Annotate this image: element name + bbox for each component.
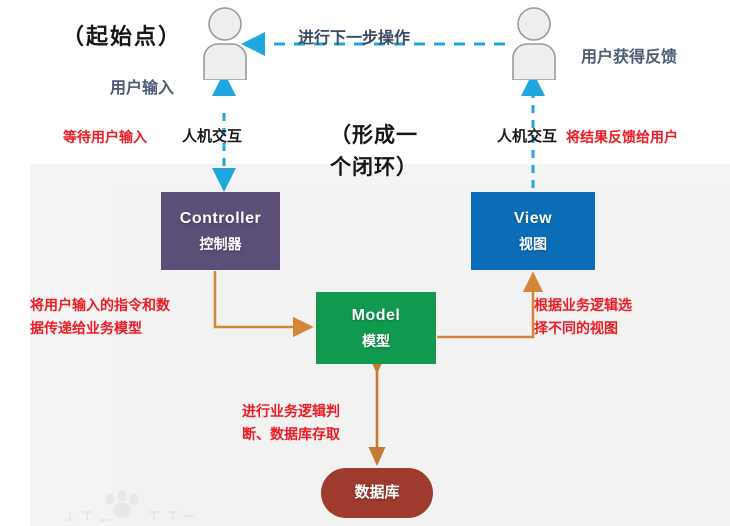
label-closed-loop: （形成一 个闭环）	[330, 120, 418, 184]
label-hci-left: 人机交互	[182, 127, 242, 148]
node-view-cn: 视图	[519, 237, 547, 252]
node-controller[interactable]: Controller 控制器	[161, 192, 280, 270]
label-start-point: （起始点）	[62, 22, 182, 52]
node-database[interactable]: 数据库	[321, 468, 433, 518]
label-business-logic: 进行业务逻辑判 断、数据库存取	[242, 400, 340, 445]
diagram-canvas: Controller 控制器 View 视图 Model 模型 数据库 （起始点…	[0, 0, 730, 526]
label-hci-right: 人机交互	[497, 127, 557, 148]
arrow-controller-to-model	[215, 271, 309, 327]
label-user-input: 用户输入	[110, 78, 174, 100]
arrow-model-to-view	[437, 276, 533, 337]
label-choose-view-line1: 根据业务逻辑选	[534, 294, 632, 317]
label-user-gets-feedback: 用户获得反馈	[581, 47, 677, 69]
label-pass-data-line2: 据传递给业务模型	[30, 317, 170, 340]
node-view-en: View	[514, 210, 552, 228]
label-closed-loop-line2: 个闭环）	[330, 152, 418, 184]
label-feedback-to-user: 将结果反馈给用户	[566, 128, 678, 147]
node-model-en: Model	[352, 307, 401, 325]
user-left-avatar	[196, 6, 254, 80]
label-wait-for-input: 等待用户输入	[63, 128, 147, 147]
label-pass-data-line1: 将用户输入的指令和数	[30, 294, 170, 317]
label-choose-view-line2: 择不同的视图	[534, 317, 632, 340]
label-pass-data-to-model: 将用户输入的指令和数 据传递给业务模型	[30, 294, 170, 339]
node-database-cn: 数据库	[354, 485, 399, 502]
node-view[interactable]: View 视图	[471, 192, 595, 270]
node-controller-cn: 控制器	[200, 237, 242, 252]
label-closed-loop-line1: （形成一	[330, 120, 418, 152]
node-model-cn: 模型	[362, 334, 390, 349]
node-model[interactable]: Model 模型	[316, 292, 436, 364]
user-right-avatar	[505, 6, 563, 80]
label-business-logic-line2: 断、数据库存取	[242, 423, 340, 446]
label-choose-view: 根据业务逻辑选 择不同的视图	[534, 294, 632, 339]
label-business-logic-line1: 进行业务逻辑判	[242, 400, 340, 423]
node-controller-en: Controller	[180, 210, 261, 228]
label-next-step: 进行下一步操作	[298, 28, 410, 50]
